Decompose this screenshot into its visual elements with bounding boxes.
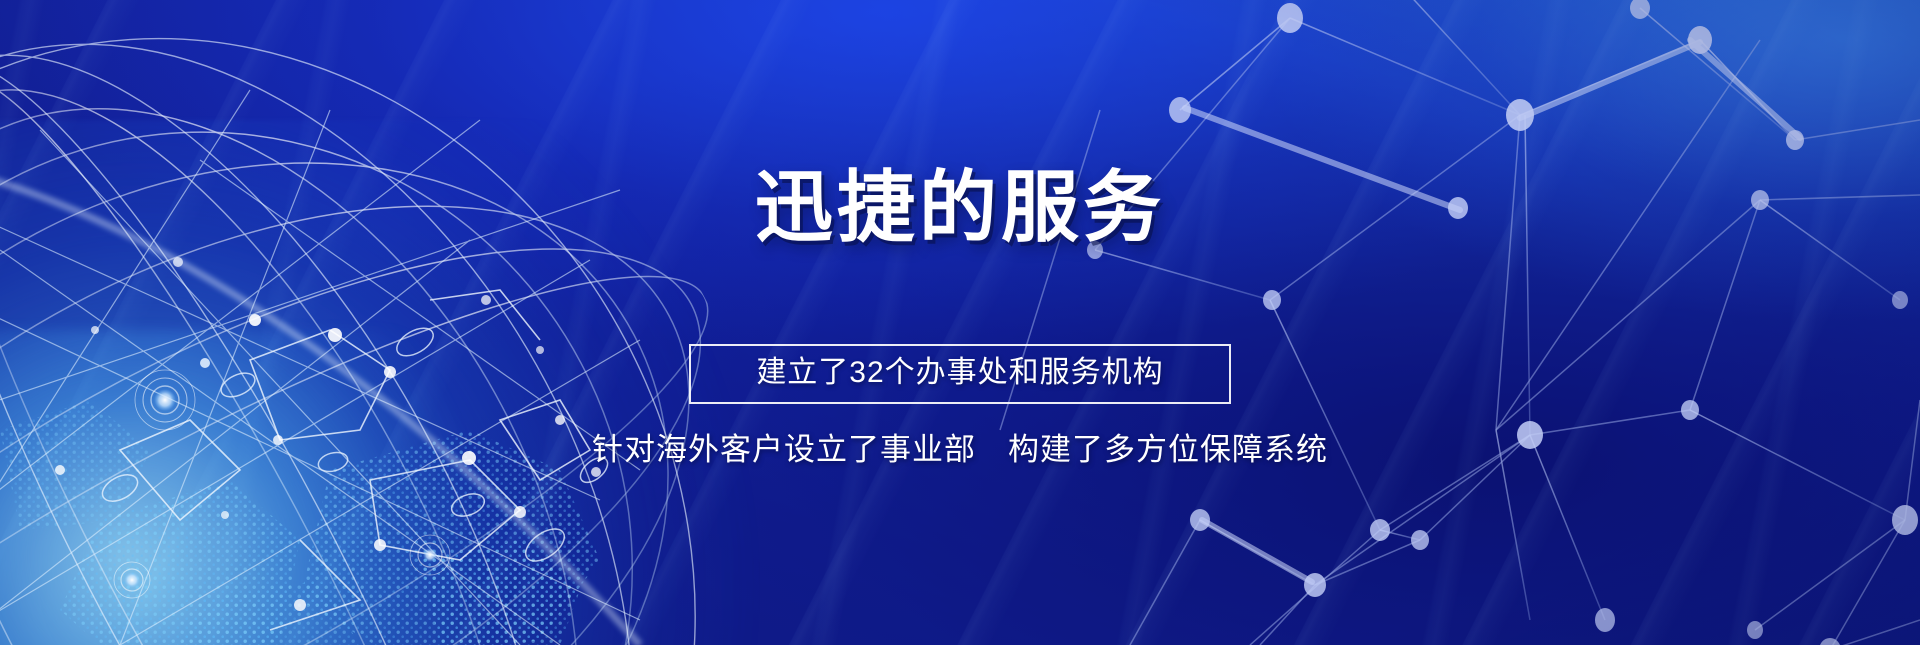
- tagline: 针对海外客户设立了事业部 构建了多方位保障系统: [592, 434, 1328, 465]
- boxed-subtitle-text: 建立了32个办事处和服务机构: [756, 356, 1163, 389]
- background-corner-glow: [0, 0, 1920, 645]
- page-title: 迅捷的服务: [755, 168, 1165, 246]
- boxed-subtitle: 建立了32个办事处和服务机构: [689, 344, 1231, 404]
- service-banner: 迅捷的服务 建立了32个办事处和服务机构 针对海外客户设立了事业部 构建了多方位…: [0, 0, 1920, 645]
